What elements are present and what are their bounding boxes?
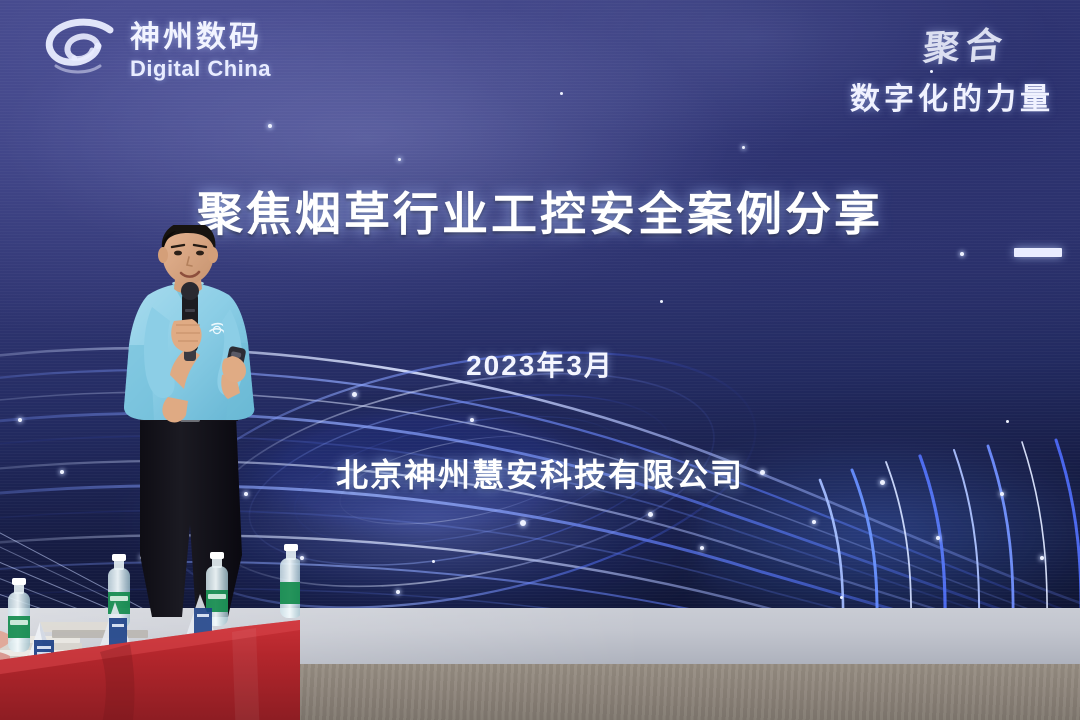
head-table-foreground	[0, 540, 300, 720]
slogan-brush-text: 聚合	[921, 16, 1010, 72]
swirl-spiral-logo-icon	[42, 16, 120, 86]
logo-wordmark: 神州数码 Digital China	[130, 23, 271, 80]
digital-china-logo: 神州数码 Digital China	[42, 16, 271, 86]
logo-english-name: Digital China	[130, 58, 271, 80]
logo-chinese-name: 神州数码	[130, 23, 271, 53]
event-slogan: 聚合 数字化的力量	[850, 18, 1054, 118]
slogan-sub-text: 数字化的力量	[850, 74, 1054, 118]
conference-photo: 神州数码 Digital China 聚合 数字化的力量 聚焦烟草行业工控安全案…	[0, 0, 1080, 720]
title-dash-decoration	[1014, 248, 1062, 257]
